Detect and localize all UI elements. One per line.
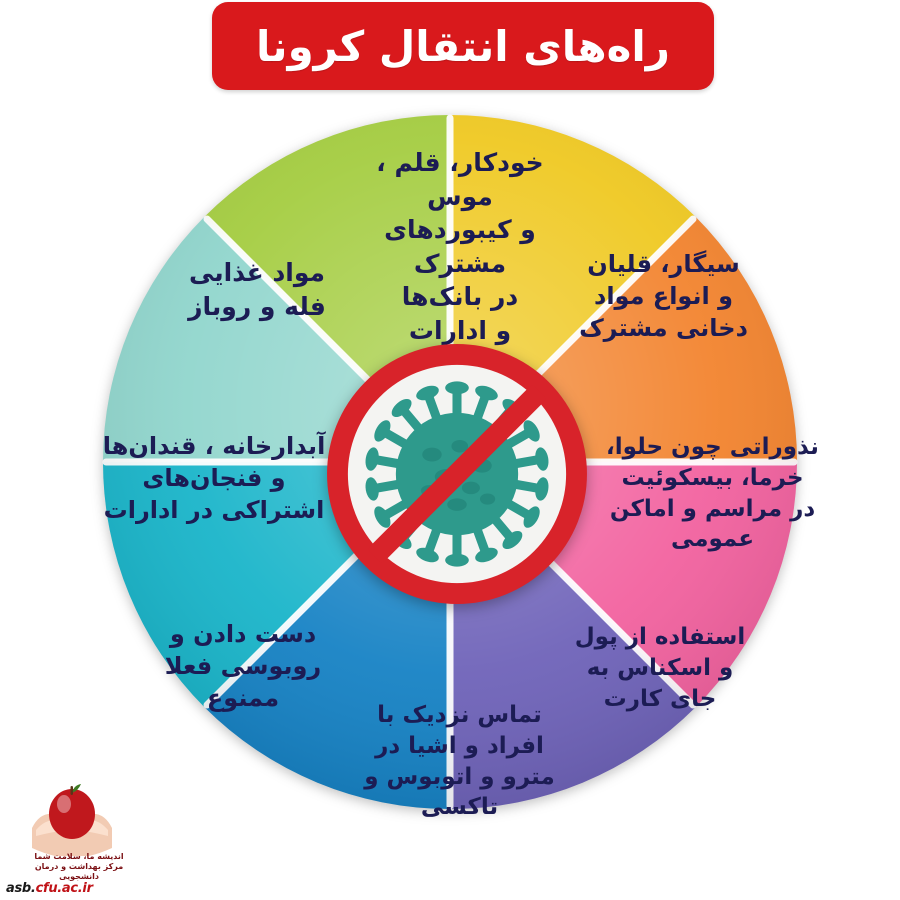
logo-slogan-line2: مرکز بهداشت و درمان (4, 862, 154, 872)
organization-logo: اندیشه ما، سلامت شما مرکز بهداشت و درمان… (4, 784, 154, 896)
logo-slogan-line1: اندیشه ما، سلامت شما (4, 852, 154, 862)
apple-stem-icon (71, 786, 74, 795)
website-watermark-prefix: asb. (6, 881, 36, 896)
apple-in-hands-icon (22, 784, 122, 856)
title-banner: راه‌های انتقال کرونا (212, 2, 714, 90)
no-coronavirus-sign (318, 335, 596, 613)
apple-gloss (57, 795, 71, 813)
website-watermark-suffix: cfu.ac.ir (36, 881, 93, 896)
apple-icon (49, 789, 95, 839)
infographic-poster: راه‌های انتقال کرونا (0, 0, 900, 900)
logo-slogan: اندیشه ما، سلامت شما مرکز بهداشت و درمان… (4, 852, 154, 882)
page-title: راه‌های انتقال کرونا (256, 22, 670, 71)
website-watermark[interactable]: asb.cfu.ac.ir (6, 881, 93, 896)
no-coronavirus-svg (318, 335, 596, 613)
